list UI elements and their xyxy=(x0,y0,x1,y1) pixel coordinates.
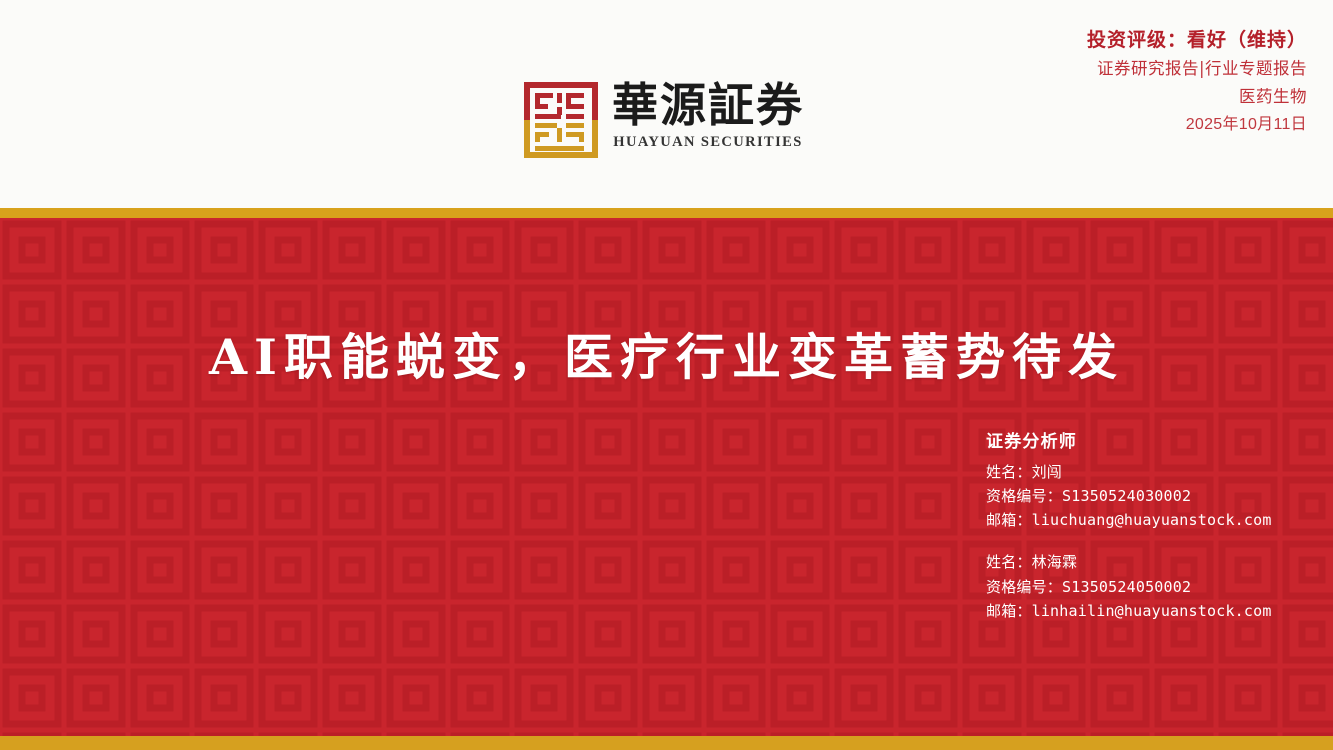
analyst-license: 资格编号：S1350524050002 xyxy=(986,575,1316,599)
investment-rating: 投资评级：看好（维持） xyxy=(1087,26,1307,55)
brand-logo-text: 華源証券 HUAYUAN SECURITIES xyxy=(612,82,804,151)
analyst-entry: 姓名：林海霖 资格编号：S1350524050002 邮箱：linhailin@… xyxy=(986,550,1316,623)
analyst-email[interactable]: 邮箱：liuchuang@huayuanstock.com xyxy=(986,508,1316,532)
brand-name-chinese: 華源証券 xyxy=(612,82,804,129)
analyst-section-heading: 证券分析师 xyxy=(986,430,1316,456)
analyst-entry: 姓名：刘闯 资格编号：S1350524030002 邮箱：liuchuang@h… xyxy=(986,460,1316,533)
page-header: 華源証券 HUAYUAN SECURITIES 投资评级：看好（维持） 证券研究… xyxy=(0,0,1333,208)
report-title: AI职能蜕变，医疗行业变革蓄势待发 xyxy=(0,318,1333,389)
analyst-block: 证券分析师 姓名：刘闯 资格编号：S1350524030002 邮箱：liuch… xyxy=(986,430,1316,641)
industry-label: 医药生物 xyxy=(1087,83,1307,111)
analyst-email[interactable]: 邮箱：linhailin@huayuanstock.com xyxy=(986,599,1316,623)
huayuan-seal-logo-icon xyxy=(524,82,598,158)
report-date: 2025年10月11日 xyxy=(1087,111,1307,139)
analyst-name: 姓名：林海霖 xyxy=(986,550,1316,574)
gold-divider-top xyxy=(0,208,1333,218)
brand-name-english: HUAYUAN SECURITIES xyxy=(612,134,804,151)
analyst-license: 资格编号：S1350524030002 xyxy=(986,484,1316,508)
report-type: 证券研究报告|行业专题报告 xyxy=(1087,55,1307,83)
report-meta: 投资评级：看好（维持） 证券研究报告|行业专题报告 医药生物 2025年10月1… xyxy=(1087,26,1307,139)
cover-hero: AI职能蜕变，医疗行业变革蓄势待发 证券分析师 姓名：刘闯 资格编号：S1350… xyxy=(0,218,1333,736)
brand-logo: 華源証券 HUAYUAN SECURITIES xyxy=(524,82,804,158)
report-cover-page: 華源証券 HUAYUAN SECURITIES 投资评级：看好（维持） 证券研究… xyxy=(0,0,1333,750)
gold-divider-bottom xyxy=(0,736,1333,750)
analyst-name: 姓名：刘闯 xyxy=(986,460,1316,484)
